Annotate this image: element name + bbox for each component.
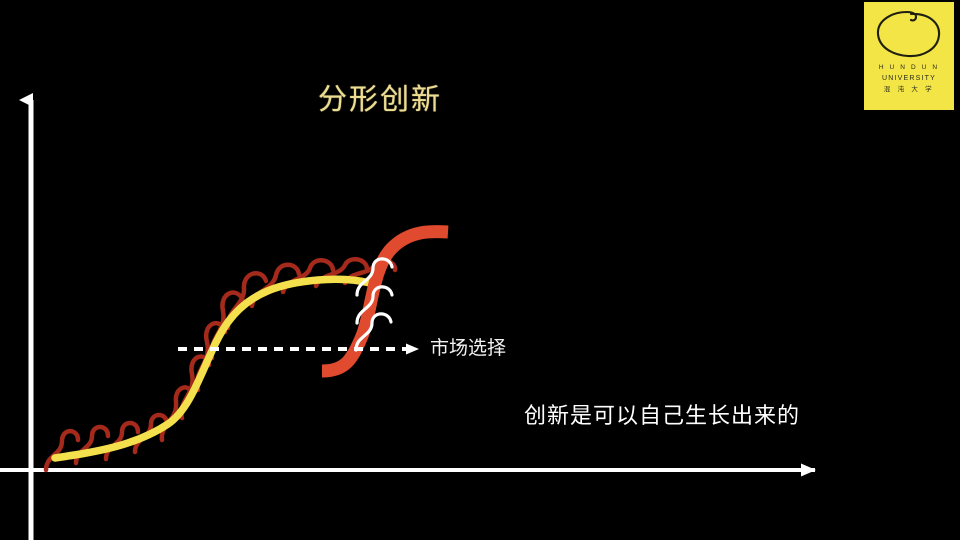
logo-line-hundun: H U N D U N xyxy=(864,64,954,73)
page-title: 分形创新 xyxy=(0,76,760,118)
bottom-note-text: 创新是可以自己生长出来的 xyxy=(524,398,800,430)
hundun-university-logo: H U N D U N UNIVERSITY 混 沌 大 学 xyxy=(864,2,954,110)
slide-canvas: 分形创新 市场选择 创新是可以自己生长出来的 H U N D U N UNIVE… xyxy=(0,0,960,540)
logo-wordmark: H U N D U N UNIVERSITY 混 沌 大 学 xyxy=(864,64,954,94)
enso-circle-icon xyxy=(864,2,954,64)
logo-line-university: UNIVERSITY xyxy=(864,74,954,83)
chart-axes xyxy=(0,100,815,540)
market-selection-label: 市场选择 xyxy=(430,333,506,360)
logo-line-chinese: 混 沌 大 学 xyxy=(864,85,954,94)
